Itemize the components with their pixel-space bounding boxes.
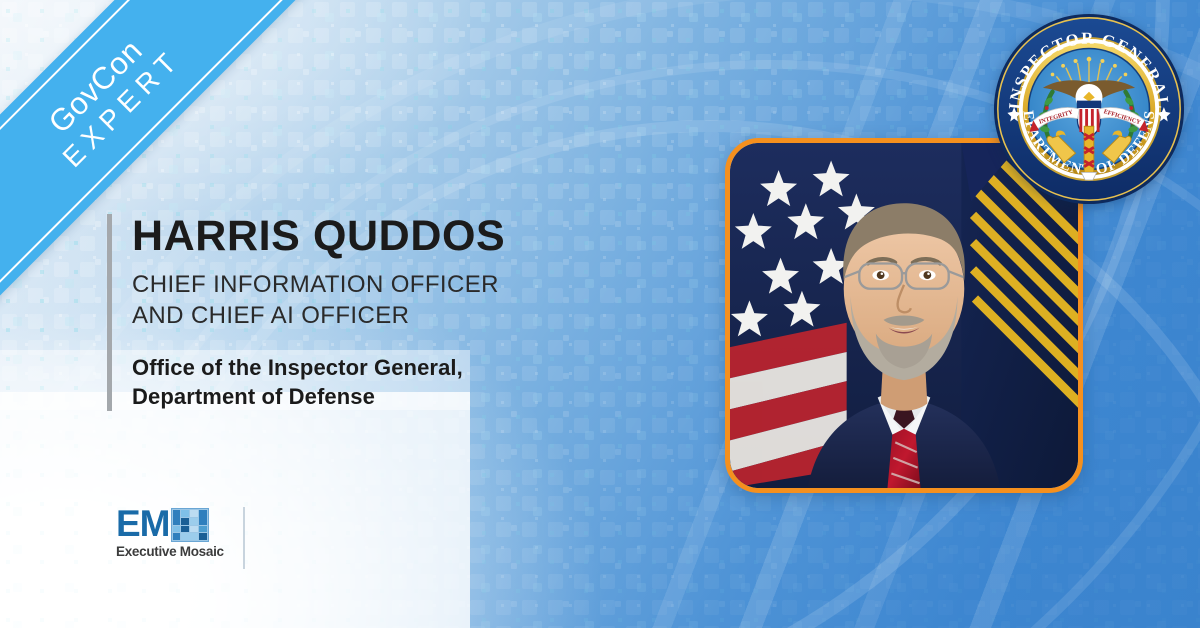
person-name: HARRIS QUDDOS [132, 214, 505, 260]
mosaic-tile [190, 526, 198, 533]
person-title-line-1: CHIEF INFORMATION OFFICER [132, 269, 505, 300]
mosaic-tile [181, 526, 189, 533]
person-title: CHIEF INFORMATION OFFICER AND CHIEF AI O… [132, 269, 505, 331]
mosaic-tile [190, 518, 198, 525]
person-title-line-2: AND CHIEF AI OFFICER [132, 300, 505, 331]
person-org-line-2: Department of Defense [132, 382, 505, 411]
mosaic-tile [199, 510, 207, 525]
logo-letters-em: EM [116, 508, 170, 542]
mosaic-tile [199, 533, 207, 540]
person-info-block: HARRIS QUDDOS CHIEF INFORMATION OFFICER … [107, 214, 505, 411]
person-org-line-1: Office of the Inspector General, [132, 353, 505, 382]
mosaic-tile [173, 533, 181, 540]
person-organization: Office of the Inspector General, Departm… [132, 353, 505, 411]
govcon-expert-card: GovCon EXPERT HARRIS QUDDOS CHIEF INFORM… [0, 0, 1200, 628]
mosaic-tile [199, 526, 207, 533]
mosaic-grid-icon [171, 508, 209, 542]
dod-inspector-general-seal-icon: INSPECTOR GENERAL DEPARTMENT OF DEFENSE [993, 13, 1185, 205]
logo-caption: Executive Mosaic [116, 545, 224, 559]
executive-mosaic-logo: EM Executive Mosaic [116, 508, 224, 559]
mosaic-tile [173, 526, 181, 533]
mosaic-tile [181, 533, 198, 540]
executive-mosaic-mark: EM Executive Mosaic [116, 508, 224, 559]
mosaic-tile [181, 518, 189, 525]
mosaic-tile [181, 510, 189, 517]
logo-row: EM [116, 508, 224, 542]
logo-divider [243, 507, 245, 569]
mosaic-tile [173, 510, 181, 525]
mosaic-tile [190, 510, 198, 517]
